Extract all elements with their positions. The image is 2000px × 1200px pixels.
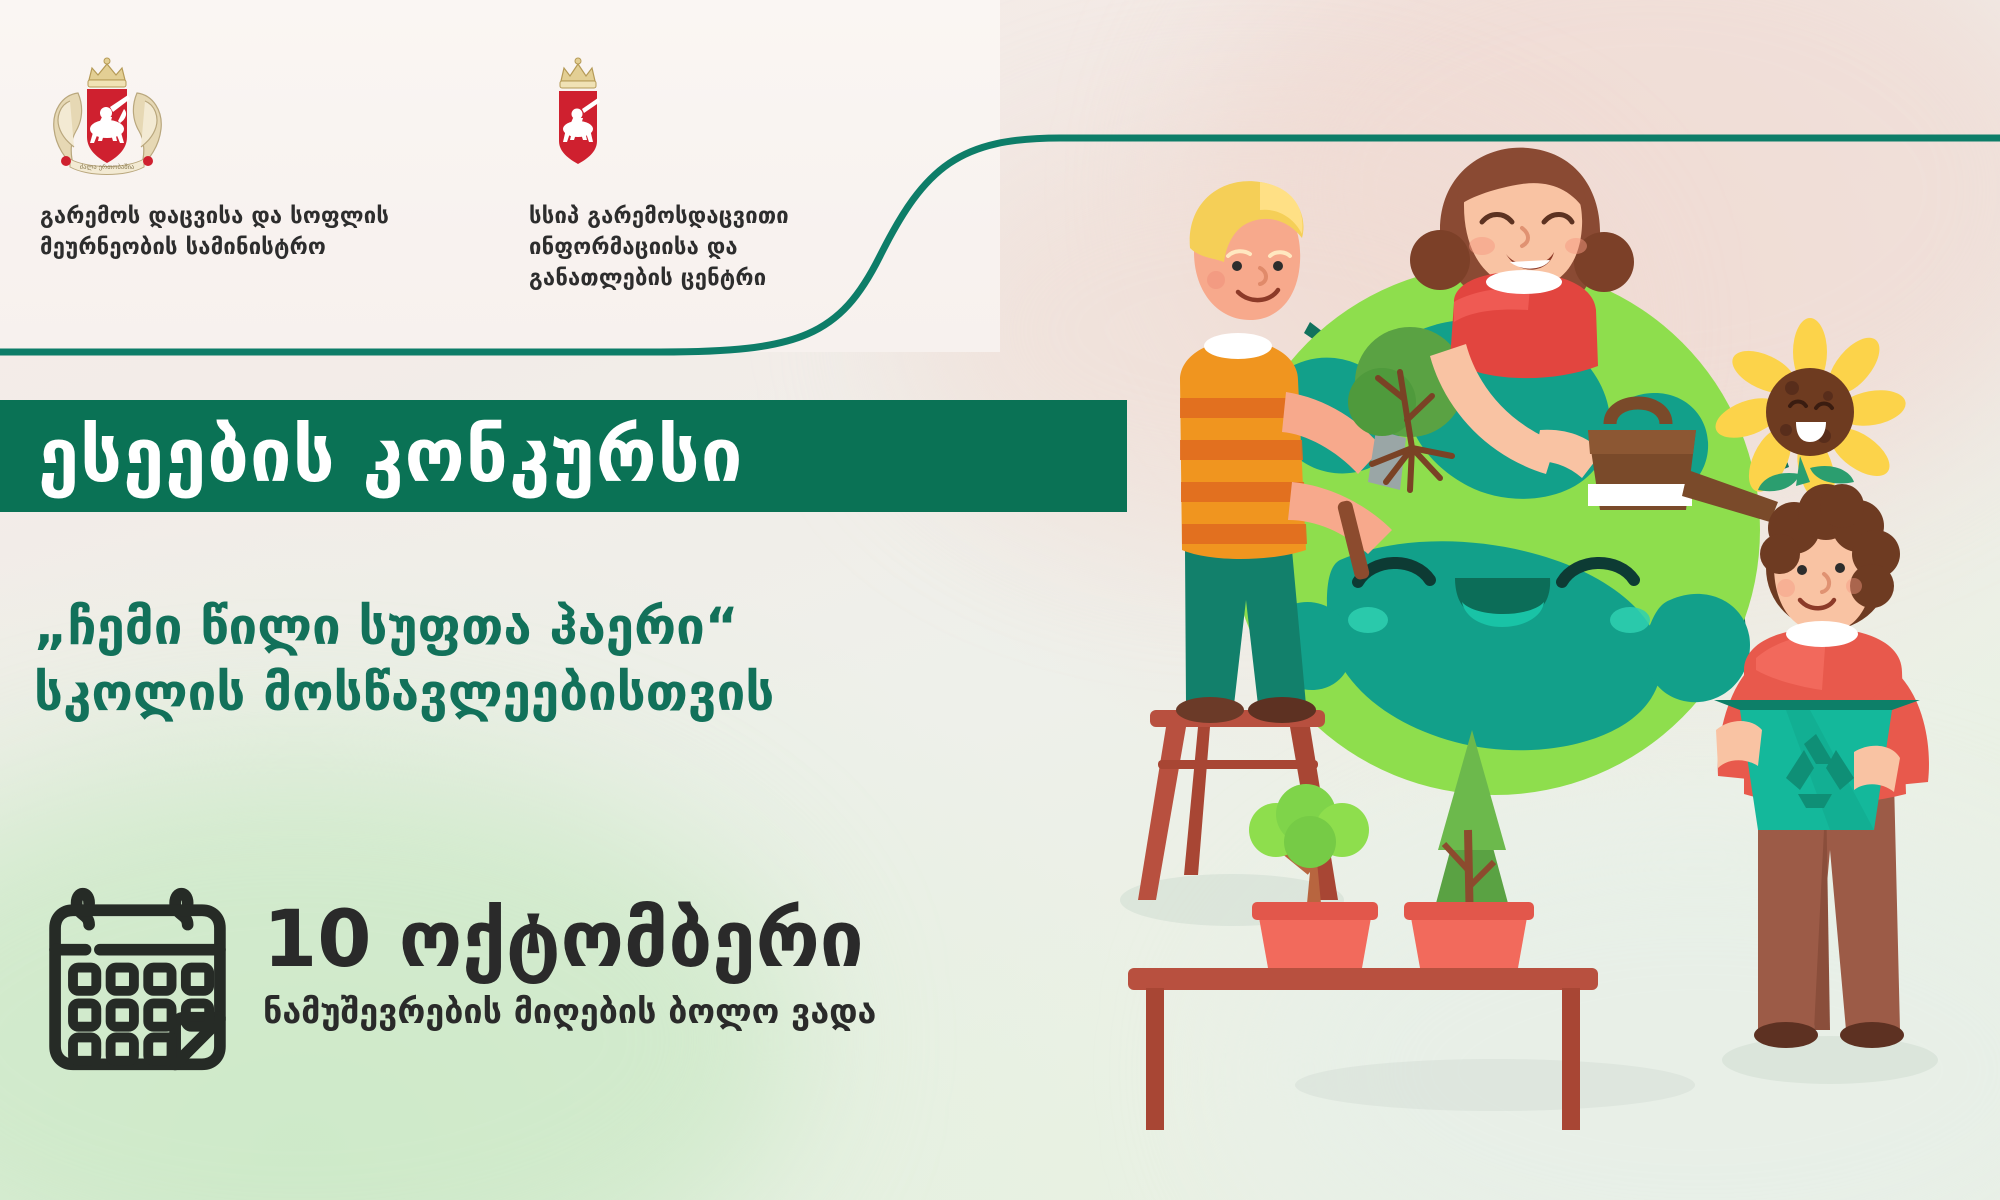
ministry-logo-label: გარემოს დაცვისა და სოფლის მეურნეობის სამ… bbox=[40, 201, 389, 263]
deadline-text: 10 ოქტომბერი ნამუშევრების მიღების ბოლო ვ… bbox=[263, 878, 876, 1032]
children-planting-earth-illustration bbox=[1110, 130, 2000, 1130]
subtitle-block: „ჩემი წილი სუფთა ჰაერი“ სკოლის მოსწავლეე… bbox=[34, 595, 1214, 728]
logo-row: ძალა ერთობაშია გარემოს დაცვისა და სოფლის… bbox=[40, 55, 789, 295]
center-logo-label: სსიპ გარემოსდაცვითი ინფორმაციისა და განა… bbox=[529, 201, 789, 295]
globe-blush-right bbox=[1610, 607, 1650, 633]
shadow-table bbox=[1295, 1059, 1695, 1111]
deadline-date: 10 ოქტომბერი bbox=[263, 900, 876, 982]
title-banner: ესეების კონკურსი bbox=[0, 400, 1127, 512]
shadow-boy-right bbox=[1722, 1036, 1938, 1084]
calendar-icon bbox=[30, 878, 245, 1093]
deadline-caption: ნამუშევრების მიღების ბოლო ვადა bbox=[263, 992, 876, 1032]
subtitle-line-2: სკოლის მოსწავლეებისთვის bbox=[34, 661, 1214, 727]
deadline-block: 10 ოქტომბერი ნამუშევრების მიღების ბოლო ვ… bbox=[30, 878, 876, 1093]
hair-bun-left bbox=[1410, 230, 1470, 290]
georgia-coat-of-arms-icon: ძალა ერთობაშია bbox=[40, 55, 175, 185]
flower-pot-left bbox=[1252, 902, 1378, 968]
page-title: ესეების კონკურსი bbox=[0, 419, 743, 493]
center-logo: სსიპ გარემოსდაცვითი ინფორმაციისა და განა… bbox=[519, 55, 789, 295]
crown-icon bbox=[88, 58, 126, 87]
flower-pot-right bbox=[1404, 902, 1534, 968]
ministry-logo: ძალა ერთობაშია გარემოს დაცვისა და სოფლის… bbox=[40, 55, 389, 295]
poster-canvas: ძალა ერთობაშია გარემოს დაცვისა და სოფლის… bbox=[0, 0, 2000, 1200]
svg-text:ძალა ერთობაშია: ძალა ერთობაშია bbox=[80, 162, 134, 171]
crown-icon bbox=[560, 58, 596, 88]
georgia-small-shield-icon bbox=[539, 55, 617, 185]
globe-blush-left bbox=[1348, 607, 1388, 633]
subtitle-line-1: „ჩემი წილი სუფთა ჰაერი“ bbox=[34, 595, 1214, 661]
